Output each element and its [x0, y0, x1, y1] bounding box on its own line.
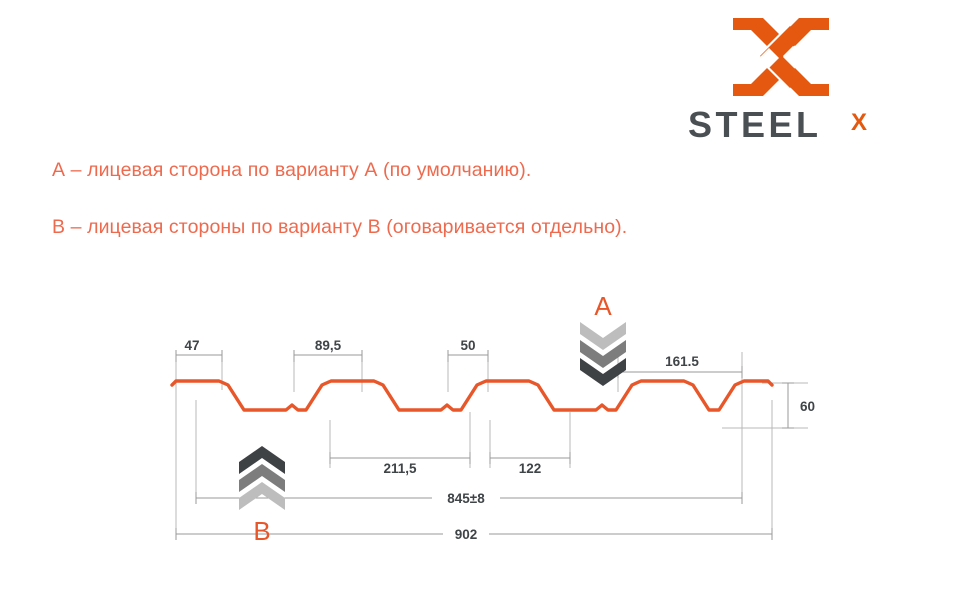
dimension-label-89-5: 89,5: [315, 338, 342, 353]
dimension-label-50: 50: [460, 338, 475, 353]
dimension-label-211-5: 211,5: [383, 461, 417, 476]
marker-b-label: B: [253, 516, 270, 546]
marker-b-chevrons: [239, 446, 285, 510]
dimension-label-902: 902: [455, 527, 478, 542]
marker-a-label: A: [594, 291, 612, 321]
profile-cross-section-drawing: A B 47 89,5 50 161.5 211,5 122 845±8 902…: [0, 0, 970, 597]
dimension-label-161-5: 161.5: [665, 354, 699, 369]
profile-outline: [172, 381, 772, 410]
marker-a-chevrons: [580, 322, 626, 386]
dimension-label-122: 122: [519, 461, 542, 476]
marker-a: A: [580, 291, 626, 386]
dimension-label-60: 60: [800, 399, 815, 414]
marker-b: B: [239, 446, 285, 546]
dimension-ticks: [176, 350, 794, 540]
dimension-label-47: 47: [184, 338, 199, 353]
dimension-label-845: 845±8: [447, 491, 485, 506]
